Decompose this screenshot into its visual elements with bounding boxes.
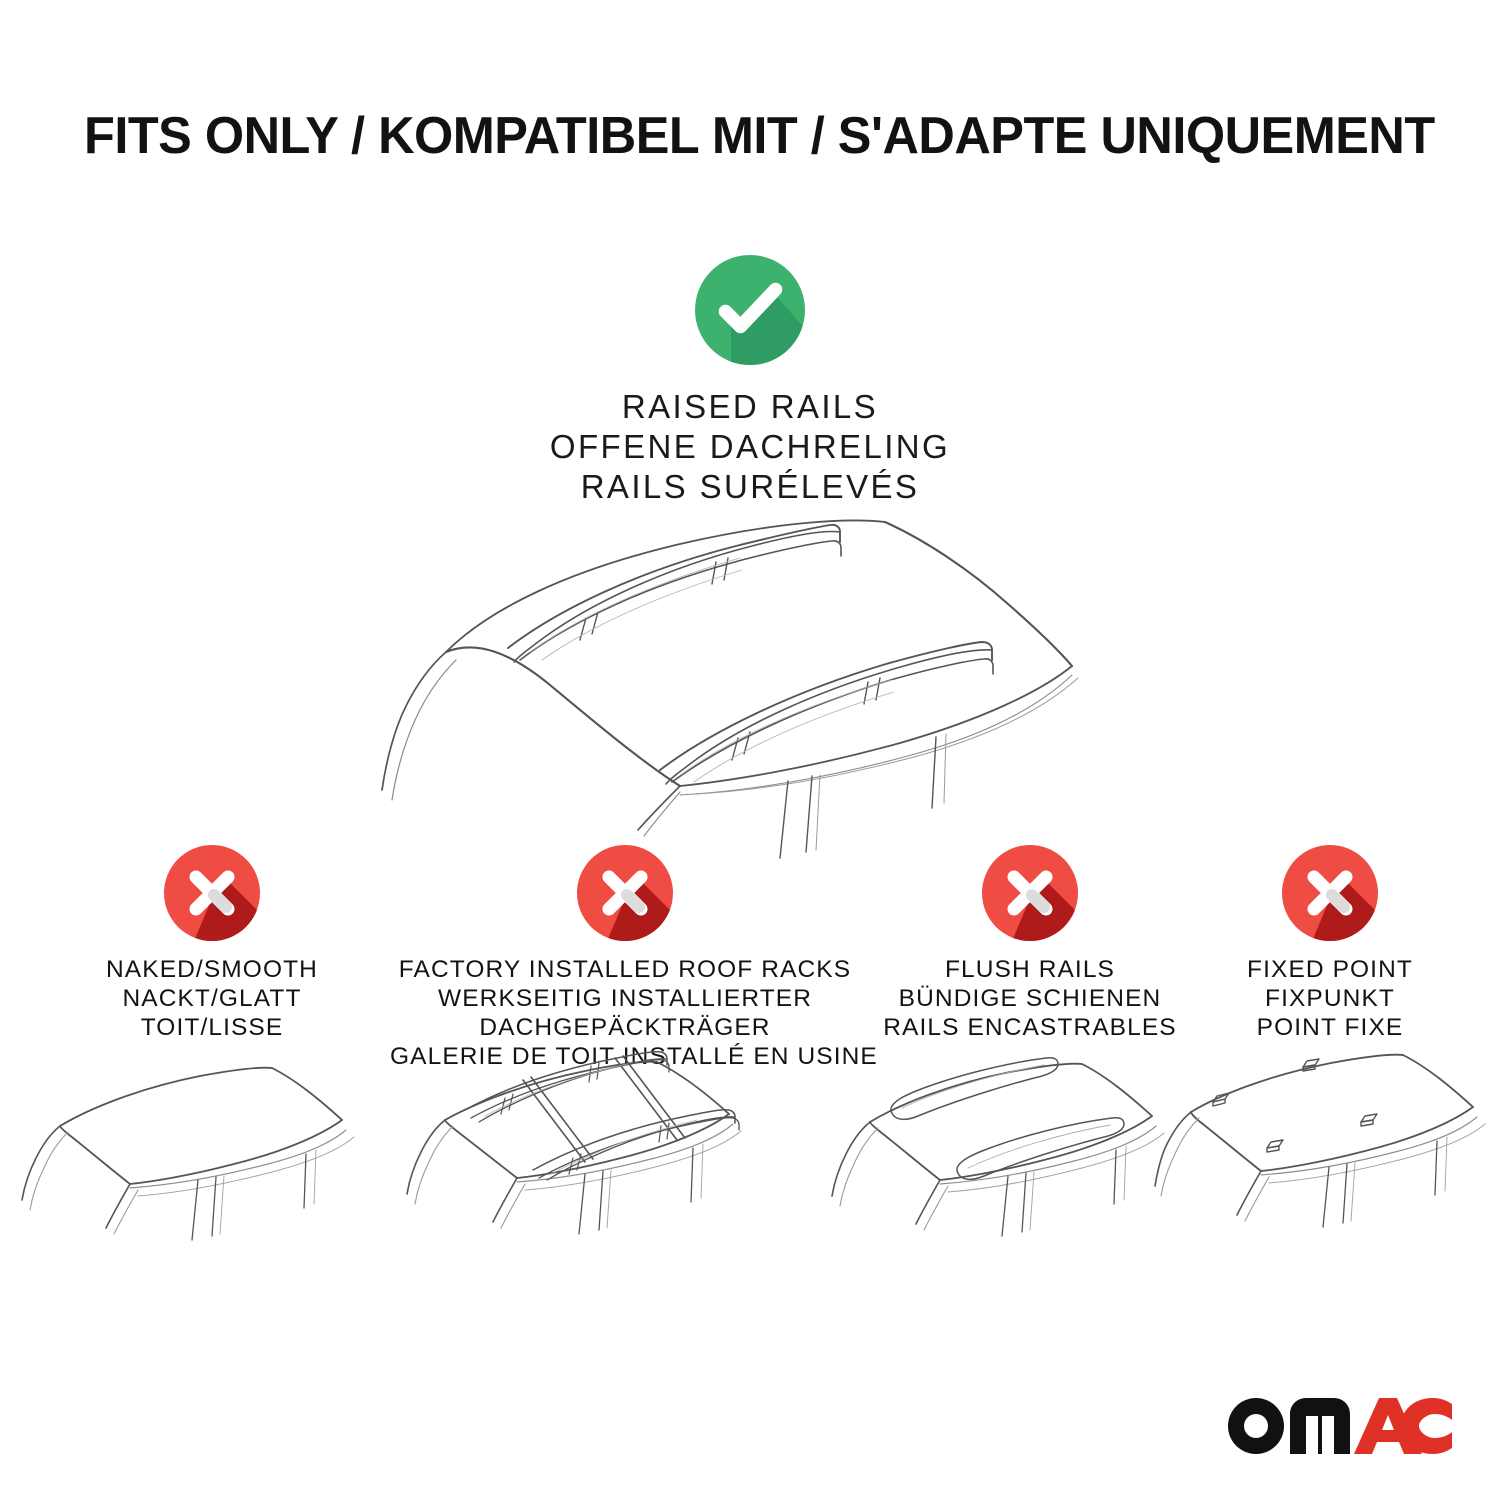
omac-logo: [1222, 1392, 1452, 1464]
illustration-naked-smooth: [20, 1050, 410, 1300]
label-line-3: RAILS ENCASTRABLES: [855, 1013, 1205, 1042]
check-circle-icon: [695, 255, 805, 365]
compatible-label-line-2: OFFENE DACHRELING: [0, 427, 1500, 467]
page-title: FITS ONLY / KOMPATIBEL MIT / S'ADAPTE UN…: [84, 106, 1384, 166]
incompatible-label: FIXED POINT FIXPUNKT POINT FIXE: [1190, 955, 1470, 1042]
omac-logo-o: [1228, 1398, 1284, 1454]
incompatible-label: NAKED/SMOOTH NACKT/GLATT TOIT/LISSE: [22, 955, 402, 1042]
label-line-1: FIXED POINT: [1190, 955, 1470, 984]
incompatible-column-naked-smooth: NAKED/SMOOTH NACKT/GLATT TOIT/LISSE: [22, 845, 402, 1042]
incompatible-label: FLUSH RAILS BÜNDIGE SCHIENEN RAILS ENCAS…: [855, 955, 1205, 1042]
illustration-fixed-point: [1155, 1050, 1500, 1300]
label-line-2: WERKSEITIG INSTALLIERTER: [390, 984, 860, 1013]
illustration-raised-rails: [380, 500, 1120, 840]
label-line-1: NAKED/SMOOTH: [22, 955, 402, 984]
compatible-block: RAISED RAILS OFFENE DACHRELING RAILS SUR…: [0, 255, 1500, 507]
cross-circle-icon: [577, 845, 673, 941]
incompatible-column-flush-rails: FLUSH RAILS BÜNDIGE SCHIENEN RAILS ENCAS…: [855, 845, 1205, 1042]
omac-logo-m: [1290, 1398, 1350, 1454]
incompatible-column-fixed-point: FIXED POINT FIXPUNKT POINT FIXE: [1190, 845, 1470, 1042]
cross-circle-icon: [164, 845, 260, 941]
label-line-3: POINT FIXE: [1190, 1013, 1470, 1042]
label-line-2: BÜNDIGE SCHIENEN: [855, 984, 1205, 1013]
compatible-label-line-3: RAILS SURÉLEVÉS: [0, 467, 1500, 507]
illustration-factory-roof-racks: [405, 1050, 805, 1300]
cross-circle-icon: [1282, 845, 1378, 941]
label-line-1: FACTORY INSTALLED ROOF RACKS: [390, 955, 860, 984]
label-line-2: NACKT/GLATT: [22, 984, 402, 1013]
cross-circle-icon: [982, 845, 1078, 941]
label-line-1: FLUSH RAILS: [855, 955, 1205, 984]
compatible-label-line-1: RAISED RAILS: [0, 387, 1500, 427]
label-line-3: DACHGEPÄCKTRÄGER: [390, 1013, 860, 1042]
label-line-3: TOIT/LISSE: [22, 1013, 402, 1042]
compatible-label: RAISED RAILS OFFENE DACHRELING RAILS SUR…: [0, 387, 1500, 507]
incompatible-column-factory-roof-racks: FACTORY INSTALLED ROOF RACKS WERKSEITIG …: [390, 845, 860, 1071]
label-line-2: FIXPUNKT: [1190, 984, 1470, 1013]
